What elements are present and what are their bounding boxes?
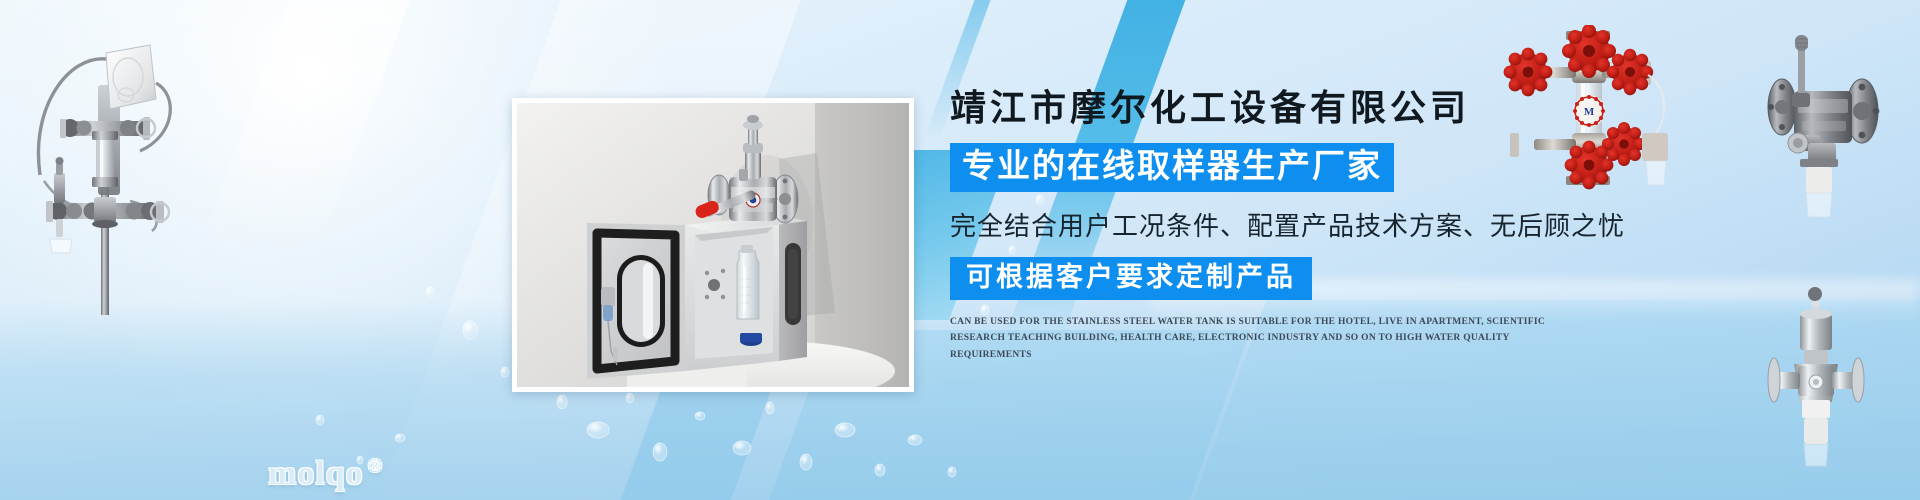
tagline-wrapper: 专业的在线取样器生产厂家 [950,143,1710,192]
english-description: CAN BE USED FOR THE STAINLESS STEEL WATE… [950,314,1570,364]
company-title: 靖江市摩尔化工设备有限公司 [950,88,1710,129]
registered-trademark-icon: ® [368,456,383,477]
diagonal-stripe-decor [195,0,424,260]
product-pipeline-sampler-on-pole [10,25,200,315]
subline-text: 完全结合用户工况条件、配置产品技术方案、无后顾之忧 [950,206,1710,243]
logo-wordmark: molqo [268,455,364,492]
tagline-badge: 专业的在线取样器生产厂家 [950,143,1394,192]
promo-banner: M [0,0,1920,500]
product-flanged-lever-valve [1740,25,1915,225]
banner-text-block: 靖江市摩尔化工设备有限公司 专业的在线取样器生产厂家 完全结合用户工况条件、配置… [950,88,1710,363]
sun-flare-icon [250,10,370,130]
custom-badge-wrapper: 可根据客户要求定制产品 [950,257,1710,299]
sampling-cabinet-photo [517,103,909,387]
brand-logo: molqo® [268,455,383,493]
custom-product-badge: 可根据客户要求定制产品 [950,257,1312,299]
product-center-photo [512,98,914,392]
